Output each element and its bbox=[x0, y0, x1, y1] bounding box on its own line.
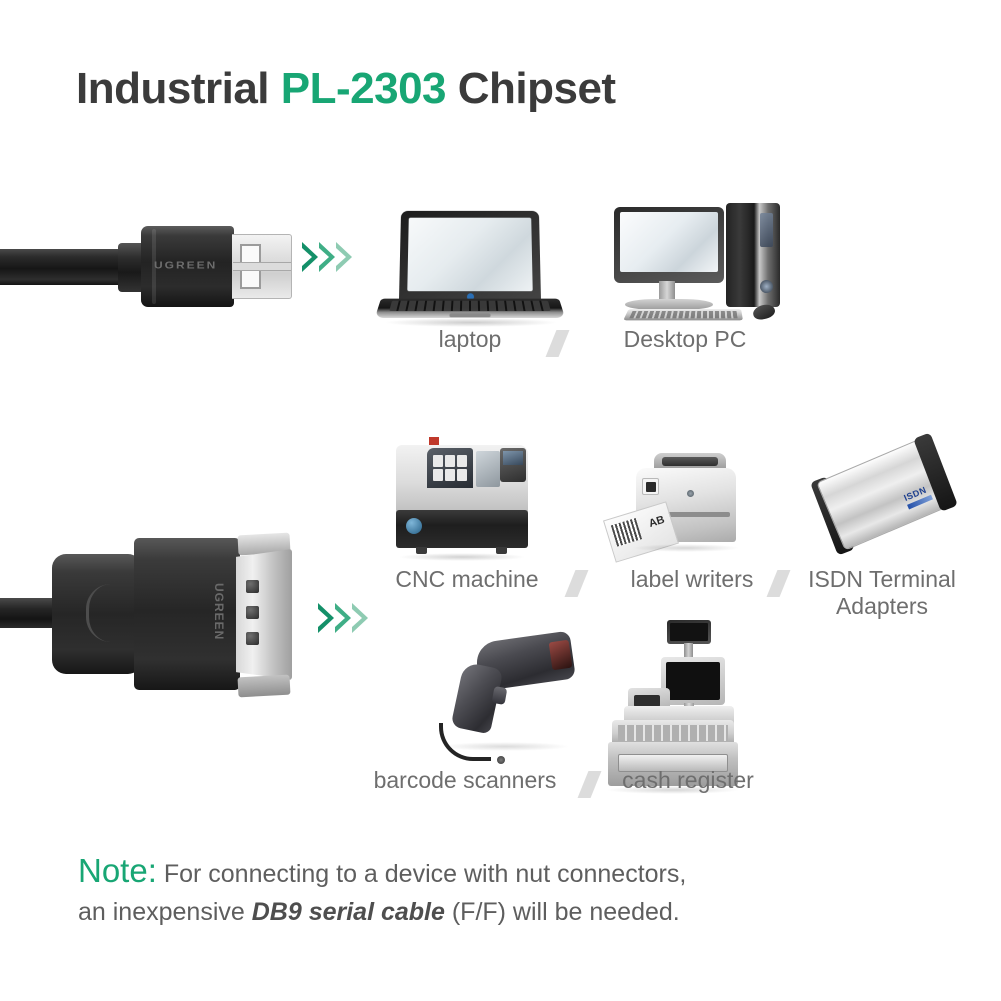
laptop-touchpad bbox=[449, 313, 490, 317]
chevron-right-icon bbox=[318, 603, 334, 633]
laptop-keyboard bbox=[389, 301, 551, 311]
isdn-card: ISDN bbox=[816, 437, 952, 550]
cnc-upper-body bbox=[396, 445, 528, 513]
caption-cnc-machine: CNC machine bbox=[382, 566, 552, 593]
cnc-machine-base bbox=[396, 510, 528, 548]
caption-laptop: laptop bbox=[400, 326, 540, 353]
pos-cash-drawer-lock-icon bbox=[497, 756, 505, 764]
cnc-shadow bbox=[398, 553, 526, 561]
separator-slash-icon bbox=[578, 771, 602, 798]
page-title: Industrial PL-2303 Chipset bbox=[76, 64, 616, 114]
caption-isdn-terminal-adapters: ISDN Terminal Adapters bbox=[792, 566, 972, 620]
db9-pin-array bbox=[246, 580, 259, 658]
chevron-right-icon bbox=[319, 242, 335, 272]
db9-bottom-screw-flange bbox=[238, 675, 291, 698]
label-printer-badge-icon bbox=[642, 478, 659, 495]
pos-main-display bbox=[661, 657, 725, 705]
caption-desktop-pc: Desktop PC bbox=[600, 326, 770, 353]
chevron-right-icon bbox=[352, 603, 368, 633]
desktop-monitor-screen bbox=[620, 212, 718, 272]
usb-ugreen-brand-mark: UGREEN bbox=[154, 259, 220, 271]
caption-label-writers: label writers bbox=[612, 566, 772, 593]
barcode-scanner-shadow bbox=[440, 742, 570, 751]
note-line1: For connecting to a device with nut conn… bbox=[157, 860, 686, 888]
label-printer-shadow bbox=[632, 544, 740, 552]
note-line2-prefix: an inexpensive bbox=[78, 898, 252, 926]
infographic-page: Industrial PL-2303 Chipset UGREEN bbox=[0, 0, 1001, 1001]
chevron-arrows-serial-row bbox=[318, 603, 369, 633]
chevron-right-icon bbox=[335, 603, 351, 633]
cnc-warning-flag-icon bbox=[429, 437, 439, 445]
laptop-lid bbox=[399, 211, 541, 303]
barcode-scanner-laser-window bbox=[549, 640, 573, 671]
db9-ugreen-brand-mark: UGREEN bbox=[210, 583, 226, 649]
label-printer-status-led-icon bbox=[687, 490, 694, 497]
note-line2-suffix: (F/F) will be needed. bbox=[445, 898, 680, 926]
title-suffix: Chipset bbox=[446, 64, 616, 113]
db9-grip-housing bbox=[52, 554, 142, 674]
laptop-screen bbox=[407, 218, 532, 292]
title-prefix: Industrial bbox=[76, 64, 281, 113]
separator-slash-icon bbox=[565, 570, 589, 597]
usb-tip-contact-bar bbox=[233, 262, 291, 271]
barcode-scanner-trigger bbox=[492, 686, 508, 705]
caption-barcode-scanners: barcode scanners bbox=[360, 767, 570, 794]
note-label: Note: bbox=[78, 852, 157, 889]
desktop-monitor bbox=[614, 207, 724, 283]
chevron-arrows-usb-row bbox=[302, 242, 353, 272]
chevron-right-icon bbox=[302, 242, 318, 272]
cnc-control-panel bbox=[500, 448, 526, 482]
note-block: Note: For connecting to a device with nu… bbox=[78, 848, 908, 930]
caption-cash-register: cash register bbox=[608, 767, 768, 794]
cnc-button-pad bbox=[433, 455, 467, 481]
barcode-scanner-art bbox=[455, 635, 575, 745]
chevron-right-icon bbox=[336, 242, 352, 272]
db9-metal-shield bbox=[236, 549, 292, 680]
title-accent-chipset-model: PL-2303 bbox=[281, 64, 446, 113]
note-emphasis-db9-serial-cable: DB9 serial cable bbox=[252, 898, 445, 926]
cnc-window bbox=[476, 451, 500, 487]
isdn-card-logo-icon: ISDN bbox=[902, 484, 933, 510]
desktop-keyboard bbox=[623, 309, 743, 320]
separator-slash-icon bbox=[546, 330, 570, 357]
printed-label-strip bbox=[603, 501, 679, 562]
pos-customer-display bbox=[667, 620, 711, 644]
laptop-base bbox=[375, 299, 565, 318]
desktop-tower-case bbox=[726, 203, 780, 307]
